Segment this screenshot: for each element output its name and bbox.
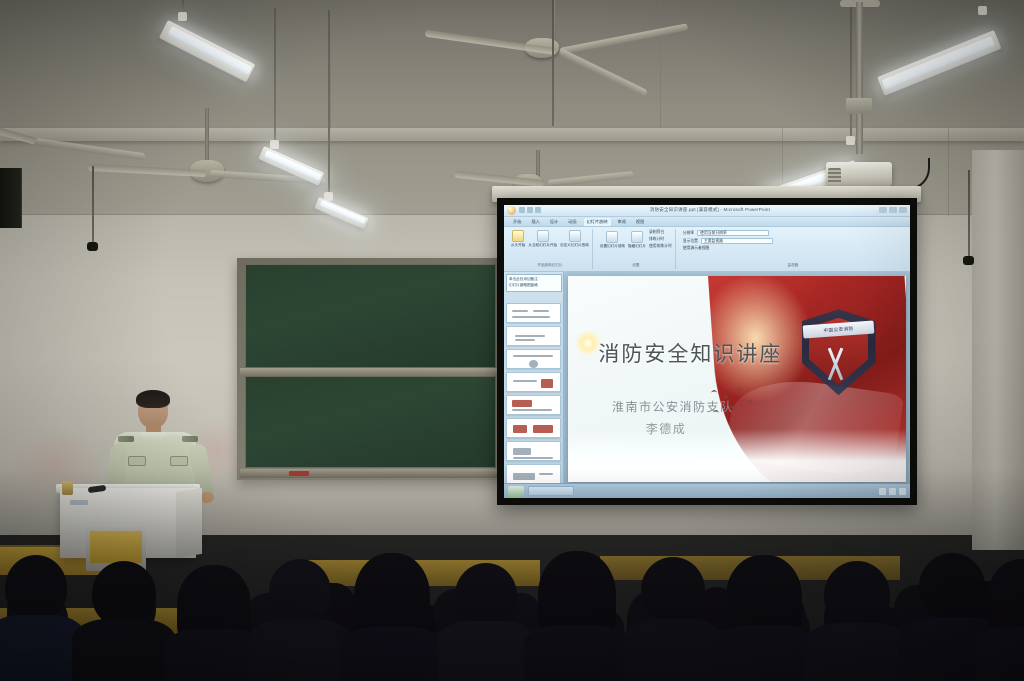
ribbon-group-label-start: 开始放映幻灯片: [511, 263, 589, 268]
slide-editing-stage[interactable]: 中国公安消防 消防安全知识讲座: [564, 272, 910, 486]
slide-thumbnail-1[interactable]: [506, 303, 561, 323]
tab-insert[interactable]: 插入: [528, 218, 542, 226]
cable-fixture-left: [87, 242, 98, 251]
office-orb-icon[interactable]: [507, 206, 516, 215]
powerpoint-window[interactable]: 消防安全知识讲座.ppt [兼容模式] - Microsoft PowerPoi…: [504, 205, 910, 498]
projector-mount-pole: [856, 2, 863, 154]
powerpoint-titlebar: 消防安全知识讲座.ppt [兼容模式] - Microsoft PowerPoi…: [504, 205, 910, 217]
current-slide[interactable]: 中国公安消防 消防安全知识讲座: [568, 276, 906, 482]
audience-person: [976, 559, 1024, 681]
tab-home[interactable]: 开始: [510, 218, 524, 226]
tab-view[interactable]: 视图: [633, 218, 647, 226]
audience-person: [0, 555, 82, 681]
slide-thumbnail-3[interactable]: [506, 349, 561, 369]
slide-subtitle-name[interactable]: 李德成: [646, 420, 687, 437]
audience-person: [440, 563, 532, 681]
projector-bracket: [846, 98, 872, 114]
tab-design[interactable]: 设计: [547, 218, 561, 226]
restore-icon[interactable]: [889, 207, 897, 213]
tab-slideshow[interactable]: 幻灯片放映: [584, 218, 611, 226]
ribbon-group-setup: 设置幻灯片放映 隐藏幻灯片 录制旁白 排练计时 使用排练计时 设置: [597, 229, 676, 269]
presenter-epaulette-left: [118, 436, 134, 442]
slide-thumbnail-6[interactable]: [506, 418, 561, 438]
slide-thumbnail-2[interactable]: [506, 326, 561, 346]
hide-slide-icon: [631, 231, 643, 243]
label-resolution: 分辨率: [683, 231, 694, 236]
wall-joint-1: [330, 0, 331, 128]
fire-service-emblem: 中国公安消防: [802, 309, 876, 395]
audience-person: [344, 553, 440, 681]
ceiling-light-2: [262, 138, 342, 188]
slide-subtitle-org[interactable]: 淮南市公安消防支队: [612, 398, 734, 415]
thumbnail-callout-tooltip: 单击此处添加备注 幻灯片缩略图窗格: [506, 274, 562, 292]
custom-show-icon: [569, 230, 581, 242]
ribbon-tabs[interactable]: 开始 插入 设计 动画 幻灯片放映 审阅 视图: [504, 217, 910, 228]
audience-person: [626, 557, 720, 681]
presenter-epaulette-right: [182, 436, 198, 442]
green-chalkboard: [237, 258, 504, 480]
emblem-text: 中国公安消防: [823, 325, 853, 333]
audience-person: [808, 561, 906, 681]
presenter-pocket-right: [170, 456, 188, 466]
projection-screen: 消防安全知识讲座.ppt [兼容模式] - Microsoft PowerPoi…: [504, 205, 910, 498]
chalkboard-rail: [240, 368, 501, 375]
ceiling-light-5: [868, 0, 1024, 90]
ribbon-button-hide-slide[interactable]: 隐藏幻灯片: [628, 231, 646, 249]
ceiling-fan-2: [0, 112, 140, 192]
chalkboard-panel-lower: [245, 376, 496, 468]
close-icon[interactable]: [899, 207, 907, 213]
slide-thumbnail-5[interactable]: [506, 395, 561, 415]
dropdown-display-value[interactable]: 主要监视器: [704, 239, 723, 244]
audience-person: [76, 561, 172, 681]
chalkboard-panel-upper: [245, 264, 496, 368]
window-controls[interactable]: [879, 207, 907, 213]
audience-group: [0, 468, 1024, 681]
presenter-hair: [136, 390, 170, 408]
hanging-cable-right: [968, 170, 970, 258]
ceiling-light-3: [318, 192, 386, 234]
ribbon-button-from-current[interactable]: 从当前幻灯片开始: [528, 230, 557, 248]
ribbon-button-setup-show[interactable]: 设置幻灯片放映: [600, 231, 625, 249]
slide-thumbnail-7[interactable]: [506, 441, 561, 461]
ceiling-light-1: [160, 0, 270, 105]
checkbox-record-narration[interactable]: 录制旁白: [649, 230, 672, 235]
redo-icon[interactable]: [535, 207, 541, 213]
audience-person: [168, 565, 260, 681]
ribbon[interactable]: 从头开始 从当前幻灯片开始 自定义幻灯片放映 开始放映幻灯片: [504, 227, 910, 272]
tab-animations[interactable]: 动画: [565, 218, 579, 226]
presenter-pocket-left: [128, 456, 146, 466]
powerpoint-workspace: 单击此处添加备注 幻灯片缩略图窗格: [504, 272, 910, 486]
audience-person: [716, 555, 812, 681]
quick-access-toolbar[interactable]: [519, 207, 541, 213]
ribbon-button-custom-show[interactable]: 自定义幻灯片放映: [560, 230, 589, 248]
light-glow: [575, 330, 601, 356]
window-caption: 消防安全知识讲座.ppt [兼容模式] - Microsoft PowerPoi…: [544, 207, 876, 213]
callout-sub: 幻灯片缩略图窗格: [509, 283, 559, 288]
wall-joint-4: [948, 128, 949, 216]
fan-downrod-wire: [552, 0, 554, 126]
cable-fixture-right: [963, 256, 974, 265]
label-display-on: 显示位置: [683, 239, 698, 244]
dropdown-resolution-value[interactable]: 使用当前分辨率: [700, 231, 727, 236]
slideshow-start-icon: [512, 230, 524, 242]
projector-vent: [828, 168, 841, 184]
slideshow-current-icon: [537, 230, 549, 242]
hanging-cable-left: [92, 166, 94, 244]
setup-show-icon: [606, 231, 618, 243]
slide-thumbnail-panel[interactable]: 单击此处添加备注 幻灯片缩略图窗格: [504, 272, 564, 486]
ribbon-group-monitors: 分辨率 使用当前分辨率 显示位置 主要监视器 使用演示者视图: [680, 229, 906, 269]
ribbon-group-start-show: 从头开始 从当前幻灯片开始 自定义幻灯片放映 开始放映幻灯片: [508, 229, 593, 269]
slide-thumbnail-4[interactable]: [506, 372, 561, 392]
tab-review[interactable]: 审阅: [615, 218, 629, 226]
minimize-icon[interactable]: [879, 207, 887, 213]
ribbon-group-label-setup: 设置: [600, 263, 672, 268]
ceiling-fan-3: [418, 0, 698, 150]
undo-icon[interactable]: [527, 207, 533, 213]
save-icon[interactable]: [519, 207, 525, 213]
ribbon-group-label-monitors: 监视器: [683, 263, 903, 268]
checkbox-rehearse-timings[interactable]: 排练计时: [649, 237, 672, 242]
audience-person: [252, 559, 348, 681]
classroom-photo: 消防安全知识讲座.ppt [兼容模式] - Microsoft PowerPoi…: [0, 0, 1024, 681]
checkbox-use-timings[interactable]: 使用排练计时: [649, 244, 672, 249]
audience-person: [528, 551, 626, 681]
checkbox-presenter-view[interactable]: 使用演示者视图: [683, 246, 903, 251]
ribbon-button-from-beginning[interactable]: 从头开始: [511, 230, 525, 248]
slide-title-text[interactable]: 消防安全知识讲座: [598, 338, 782, 368]
